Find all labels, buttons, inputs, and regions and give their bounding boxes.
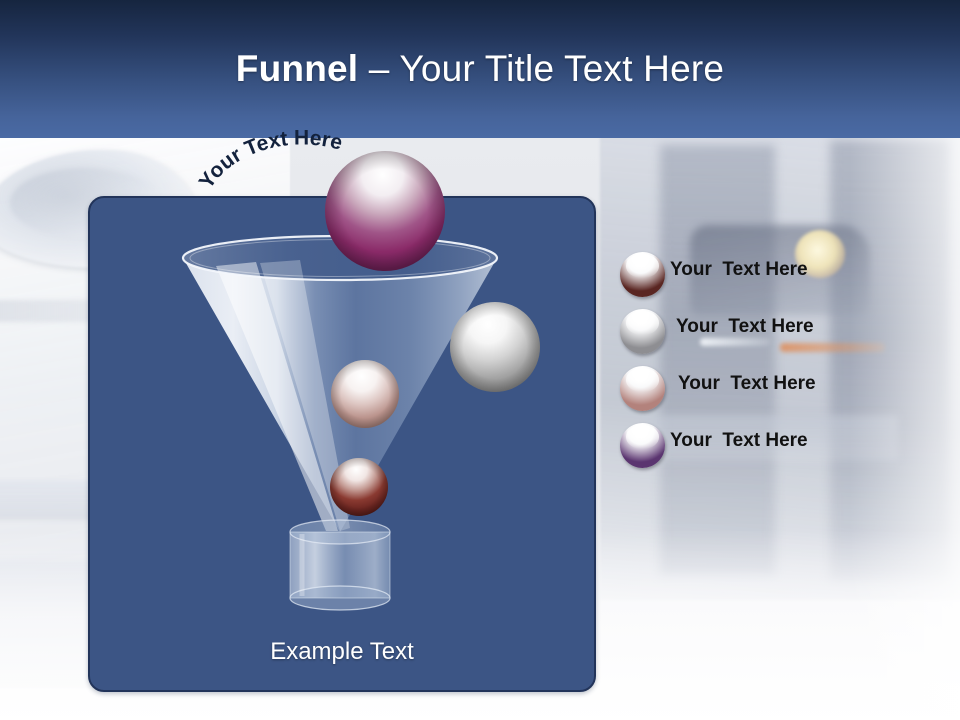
arc-text-label: Your Text Here — [196, 126, 345, 192]
legend-label-4: Your Text Here — [670, 430, 808, 452]
funnel-graphic — [88, 150, 592, 620]
page-title-strong: Funnel — [236, 48, 358, 89]
legend-bullet-dark-red-icon — [620, 252, 665, 297]
legend-bullet-gray-icon — [620, 309, 665, 354]
legend-bullet-purple-icon — [620, 423, 665, 468]
legend-label-3: Your Text Here — [678, 373, 816, 395]
sphere-pink — [331, 360, 399, 428]
slide-canvas: Funnel – Your Title Text Here Example Te… — [0, 0, 960, 720]
legend-item-1[interactable]: Your Text Here — [616, 252, 946, 298]
panel-caption: Example Text — [90, 638, 594, 666]
legend-item-2[interactable]: Your Text Here — [616, 309, 946, 355]
legend-label-2: Your Text Here — [676, 316, 814, 338]
sphere-gray — [450, 302, 540, 392]
legend: Your Text Here Your Text Here Your Text … — [616, 252, 946, 482]
arc-text-your-text-here: Your Text Here — [196, 118, 406, 204]
legend-bullet-gloss-1 — [626, 254, 658, 277]
legend-label-1: Your Text Here — [670, 259, 808, 281]
sphere-dark-red — [330, 458, 388, 516]
legend-bullet-gloss-3 — [626, 368, 658, 391]
legend-bullet-gloss-2 — [626, 311, 658, 334]
legend-bullet-gloss-4 — [626, 425, 658, 448]
legend-item-4[interactable]: Your Text Here — [616, 423, 946, 469]
legend-item-3[interactable]: Your Text Here — [616, 366, 946, 412]
funnel-spout — [290, 520, 390, 610]
page-title: Funnel – Your Title Text Here — [0, 48, 960, 90]
page-title-rest: – Your Title Text Here — [358, 48, 724, 89]
legend-bullet-pink-icon — [620, 366, 665, 411]
